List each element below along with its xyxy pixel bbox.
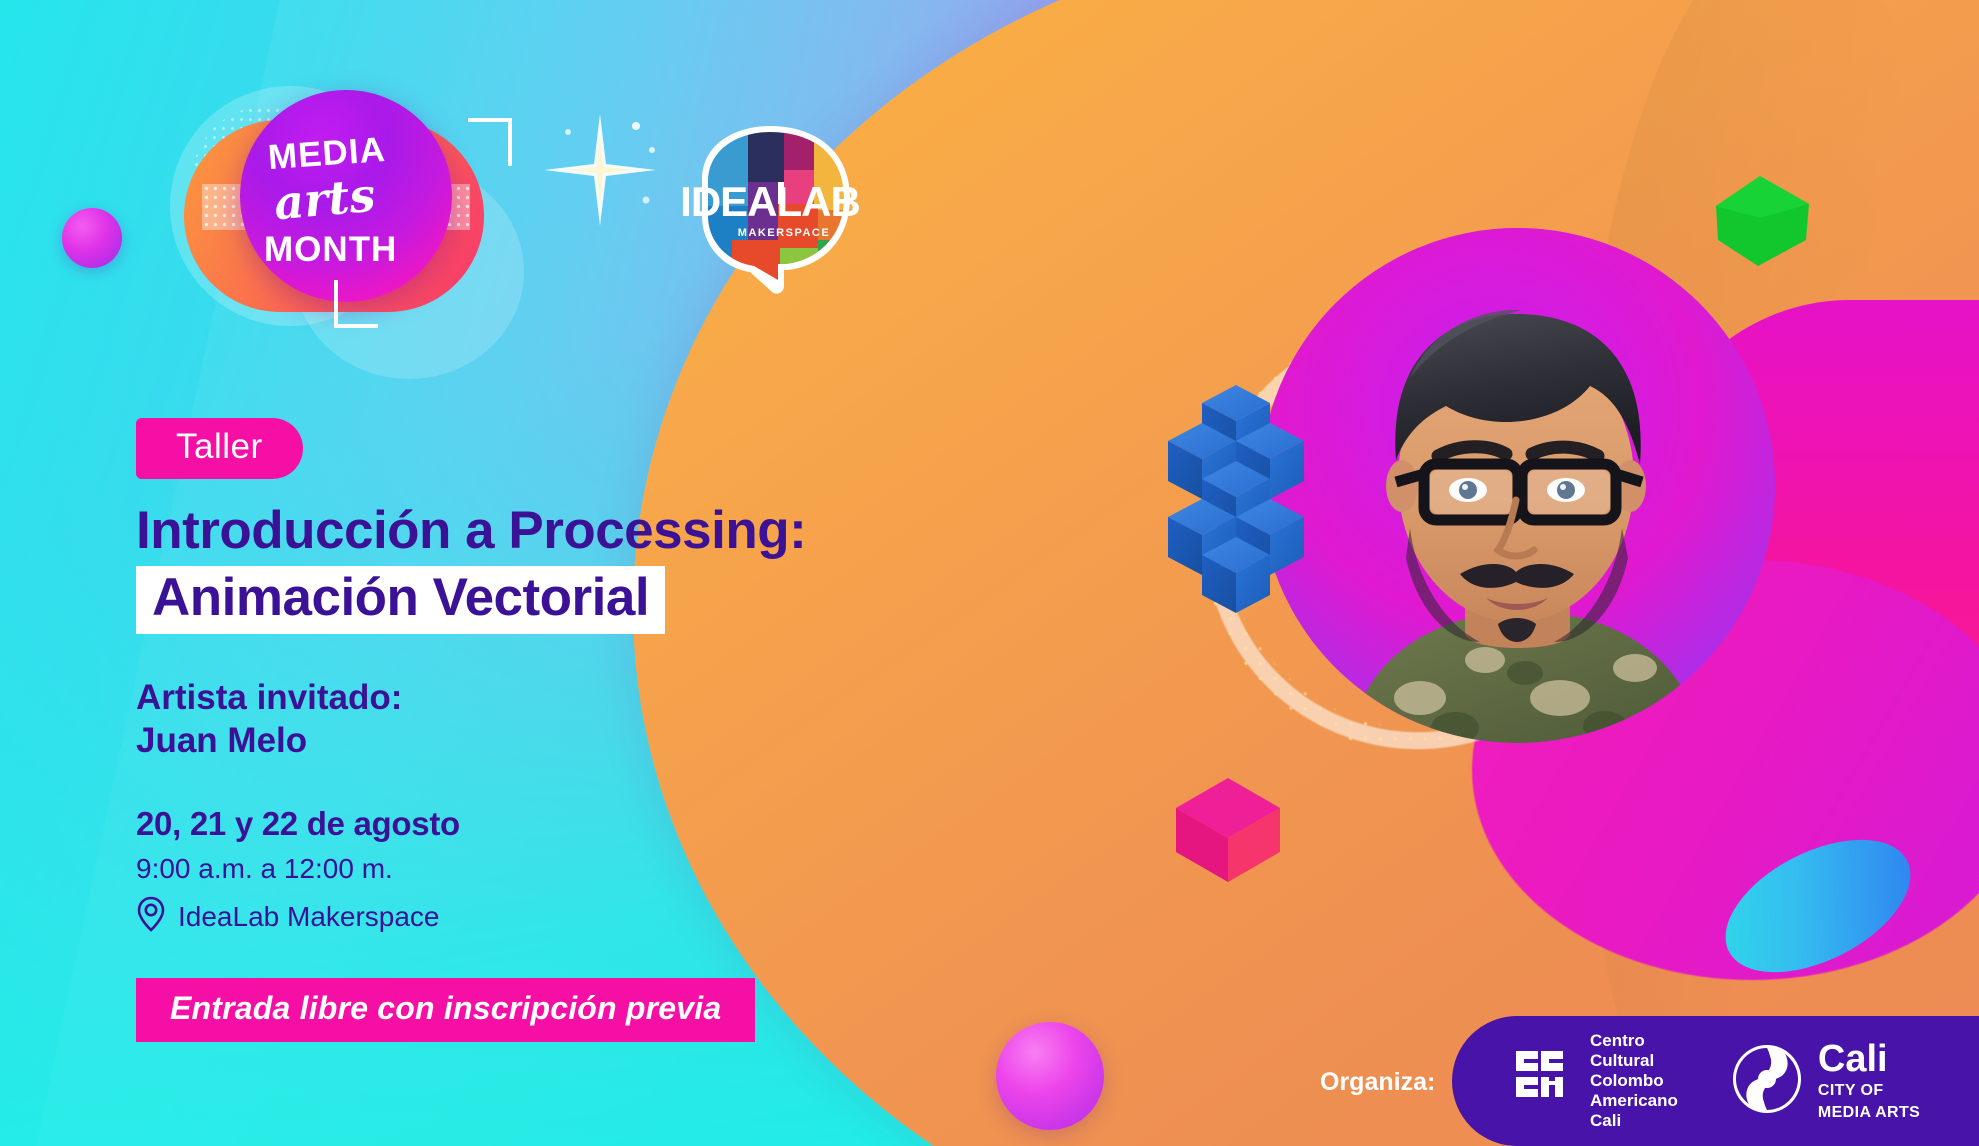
ccca-monogram-icon: [1514, 1047, 1576, 1114]
ccca-line-1: Centro: [1590, 1031, 1678, 1051]
green-hexagon-icon: [1710, 170, 1815, 270]
event-content: Taller Introducción a Processing: Animac…: [136, 418, 926, 1042]
ccca-wordmark: Centro Cultural Colombo Americano Cali: [1590, 1031, 1678, 1131]
ccca-line-5: Cali: [1590, 1111, 1678, 1131]
organizer-label: Organiza:: [1320, 1068, 1435, 1097]
ccca-line-4: Americano: [1590, 1091, 1678, 1111]
event-time: 9:00 a.m. a 12:00 m.: [136, 853, 926, 885]
cali-logo: Cali CITY OF MEDIA ARTS: [1730, 1040, 1920, 1122]
sparkle-icon: [538, 108, 668, 238]
title-line-1: Introducción a Processing:: [136, 501, 926, 560]
magenta-sphere-bottom: [996, 1022, 1104, 1130]
mam-line-arts: arts: [272, 168, 378, 231]
cali-sub-line-1: CITY OF: [1818, 1081, 1920, 1100]
poster-canvas: MEDIA arts MONTH: [0, 0, 1979, 1146]
organizer-logo-bar: Centro Cultural Colombo Americano Cali C…: [1452, 1016, 1979, 1146]
guest-artist-block: Artista invitado: Juan Melo: [136, 676, 926, 764]
cali-swirl-icon: [1730, 1042, 1804, 1121]
mam-bracket-top-right: [468, 118, 512, 166]
mam-bracket-bottom-left: [334, 280, 378, 328]
cali-wordmark: Cali CITY OF MEDIA ARTS: [1818, 1040, 1920, 1122]
event-location: IdeaLab Makerspace: [178, 901, 440, 933]
idealab-logo: IDEALAB MAKERSPACE: [672, 120, 862, 300]
event-type-badge: Taller: [136, 418, 303, 479]
artist-name: Juan Melo: [136, 719, 926, 763]
title-line-2: Animación Vectorial: [136, 566, 665, 633]
magenta-sphere-left: [62, 208, 122, 268]
artist-label: Artista invitado:: [136, 676, 926, 720]
media-arts-month-logo: MEDIA arts MONTH: [168, 68, 528, 338]
event-date: 20, 21 y 22 de agosto: [136, 805, 926, 843]
event-location-row: IdeaLab Makerspace: [136, 895, 926, 938]
page-title: Introducción a Processing: Animación Vec…: [136, 501, 926, 634]
mam-text-group: MEDIA arts MONTH: [240, 90, 452, 302]
blue-cube-cluster-icon: [1150, 385, 1340, 625]
svg-text:MAKERSPACE: MAKERSPACE: [738, 227, 830, 239]
registration-banner: Entrada libre con inscripción previa: [136, 978, 755, 1042]
ccca-line-3: Colombo: [1590, 1071, 1678, 1091]
map-pin-icon: [136, 895, 166, 938]
pink-cube-icon: [1168, 770, 1288, 890]
ccca-line-2: Cultural: [1590, 1051, 1678, 1071]
cali-sub-line-2: MEDIA ARTS: [1818, 1103, 1920, 1122]
mam-line-month: MONTH: [264, 230, 397, 270]
ccca-logo: Centro Cultural Colombo Americano Cali: [1514, 1031, 1678, 1131]
svg-text:IDEALAB: IDEALAB: [680, 178, 860, 225]
cali-name: Cali: [1818, 1040, 1920, 1078]
